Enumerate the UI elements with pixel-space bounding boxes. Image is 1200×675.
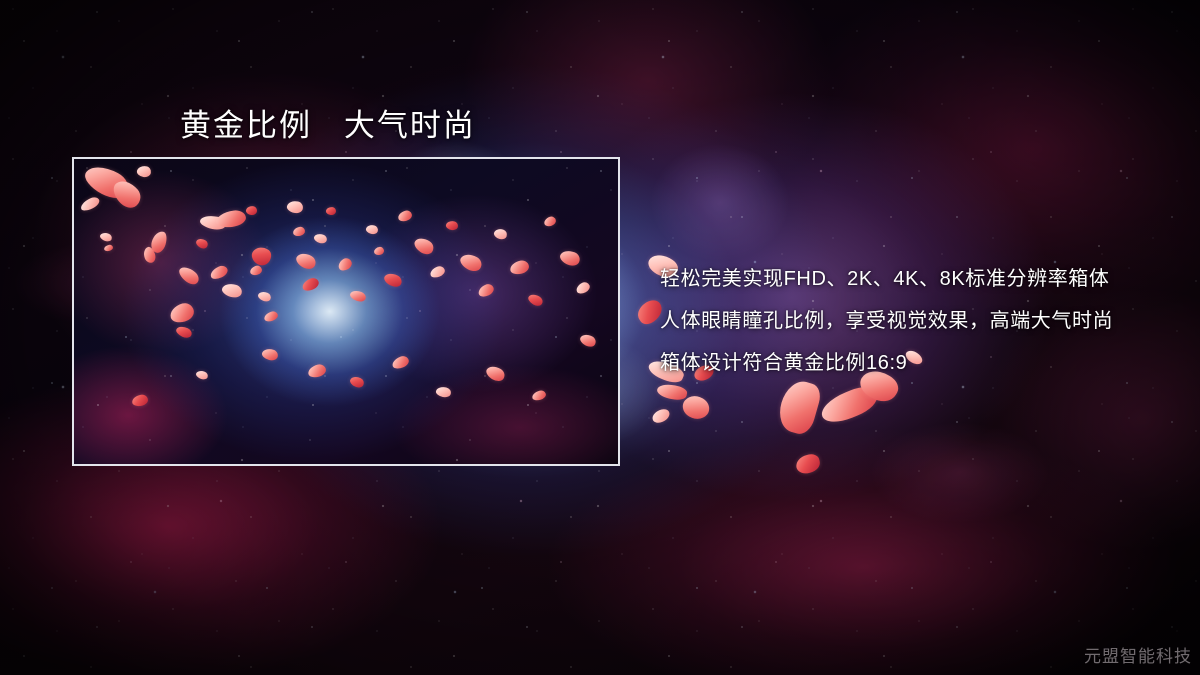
petal xyxy=(650,407,671,425)
petal xyxy=(656,382,688,402)
description-line: 人体眼睛瞳孔比例，享受视觉效果，高端大气时尚 xyxy=(660,300,1180,342)
page-title: 黄金比例 大气时尚 xyxy=(180,100,476,145)
petal xyxy=(794,452,822,475)
description-line: 箱体设计符合黄金比例16:9 xyxy=(660,342,1180,384)
petal xyxy=(775,377,824,437)
slide-canvas: 黄金比例 大气时尚 轻松完美实现FHD、2K、4K、8K标准分辨率箱体 人体眼睛… xyxy=(0,0,1200,675)
watermark: 元盟智能科技 xyxy=(1084,642,1192,667)
description-block: 轻松完美实现FHD、2K、4K、8K标准分辨率箱体 人体眼睛瞳孔比例，享受视觉效… xyxy=(660,258,1180,384)
framed-image xyxy=(72,157,620,466)
description-line: 轻松完美实现FHD、2K、4K、8K标准分辨率箱体 xyxy=(660,258,1180,300)
framed-image-nebula xyxy=(74,159,618,464)
